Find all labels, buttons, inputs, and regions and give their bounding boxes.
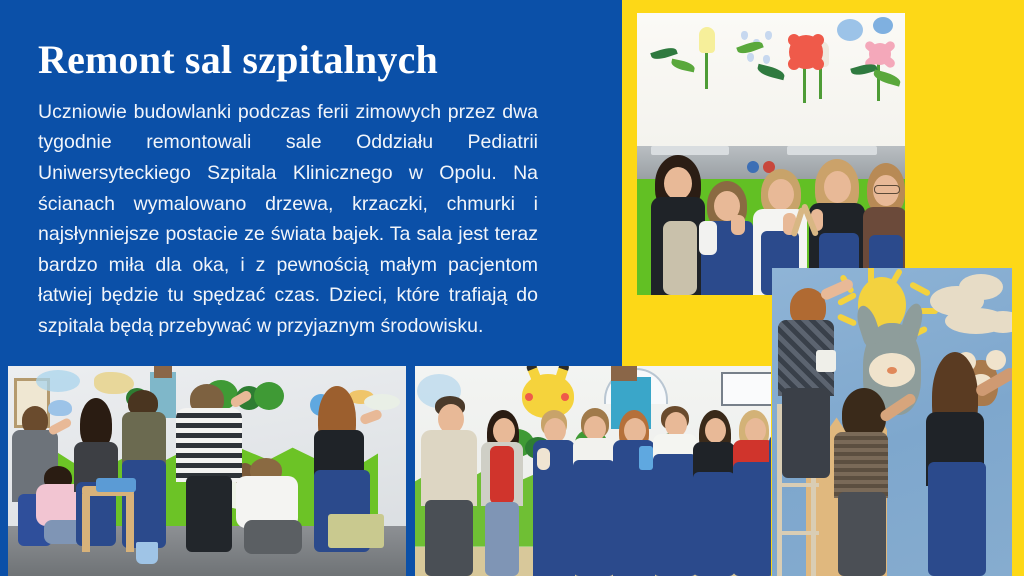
tulip-icon [699, 27, 715, 53]
paint-bucket [136, 542, 158, 564]
counter-shelf [651, 146, 729, 155]
student-figure [573, 408, 615, 576]
petal-icon [747, 53, 754, 62]
flower-stem [705, 47, 708, 89]
flower-stem [877, 61, 880, 101]
student-figure [733, 410, 771, 576]
page-title: Remont sal szpitalnych [38, 38, 538, 83]
teacher-figure [421, 396, 479, 576]
photo-students-painting-tom-and-jerry [772, 268, 1012, 576]
photo-scene [8, 366, 406, 576]
body-paragraph: Uczniowie budowlanki podczas ferii zimow… [38, 97, 538, 342]
teacher-figure [481, 410, 523, 576]
petal-icon [741, 31, 748, 40]
painted-tree [254, 382, 284, 410]
painted-figure-head [154, 366, 172, 378]
photo-scene [772, 268, 1012, 576]
chair-leg [82, 494, 90, 552]
student-figure [653, 406, 697, 576]
counter-shelf [787, 146, 877, 155]
steve-head [611, 366, 637, 381]
student-figure [697, 175, 757, 295]
ladder-rung [777, 483, 819, 487]
worker-figure-crouching [236, 458, 308, 554]
chair-leg [126, 494, 134, 552]
chair-back [328, 514, 384, 548]
photo-group-in-front-of-mural [415, 366, 771, 576]
petal-icon [763, 55, 770, 64]
photo-scene [415, 366, 771, 576]
text-column: Remont sal szpitalnych Uczniowie budowla… [38, 38, 538, 342]
flower-icon [789, 35, 823, 69]
slide-root: Remont sal szpitalnych Uczniowie budowla… [0, 0, 1024, 576]
paint-tray [96, 478, 136, 492]
student-figure [693, 410, 735, 576]
flower-icon [837, 19, 863, 41]
painted-sign [721, 372, 771, 406]
worker-figure [74, 398, 120, 546]
flower-stem [803, 63, 806, 103]
petal-icon [765, 31, 772, 40]
painted-cloud [36, 370, 80, 392]
worker-figure [830, 388, 906, 576]
photo-students-painting-green-mural [8, 366, 406, 576]
sun-ray [868, 268, 874, 284]
photo-five-students-flower-mural [637, 13, 905, 295]
worker-on-ladder [776, 288, 838, 478]
student-figure [613, 410, 655, 576]
flower-icon [873, 17, 893, 34]
student-figure [769, 406, 771, 576]
worker-figure [918, 352, 1010, 576]
photo-scene [637, 13, 905, 295]
ladder-rung [777, 531, 819, 535]
student-figure [533, 410, 575, 576]
flower-icon [869, 43, 891, 65]
